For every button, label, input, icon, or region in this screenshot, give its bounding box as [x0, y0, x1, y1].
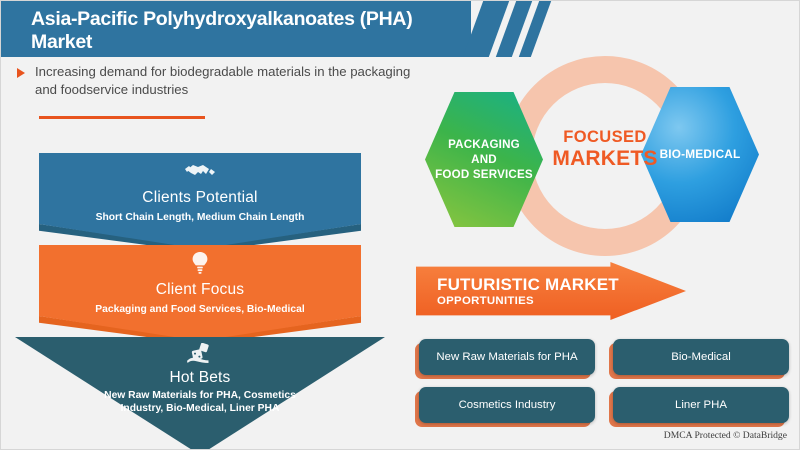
band-subtitle: Short Chain Length, Medium Chain Length — [39, 211, 361, 224]
funnel-band-client-focus: Client Focus Packaging and Food Services… — [39, 245, 361, 341]
page-title: Asia-Pacific Polyhydroxyalkanoates (PHA)… — [31, 8, 451, 54]
band-title: Clients Potential — [39, 189, 361, 207]
card-face: Cosmetics Industry — [419, 387, 595, 423]
hand-dice-icon — [15, 343, 385, 372]
accent-rule — [39, 116, 205, 119]
card-label: Liner PHA — [667, 399, 735, 411]
hexagon-label: BIO-MEDICAL — [660, 147, 741, 162]
focused-markets-diagram: PACKAGING AND FOOD SERVICES BIO-MEDICAL … — [419, 59, 791, 254]
focused-line-2: MARKETS — [544, 148, 666, 169]
handshake-icon — [39, 161, 361, 186]
band-title: Client Focus — [39, 281, 361, 299]
opportunity-card-grid: New Raw Materials for PHA Bio-Medical Co… — [415, 339, 793, 429]
opportunity-card-bio-medical[interactable]: Bio-Medical — [609, 339, 785, 375]
hexagon-label: PACKAGING AND FOOD SERVICES — [435, 137, 533, 182]
band-subtitle: Packaging and Food Services, Bio-Medical — [39, 303, 361, 316]
card-label: New Raw Materials for PHA — [428, 351, 585, 363]
card-label: Bio-Medical — [663, 351, 739, 363]
card-label: Cosmetics Industry — [451, 399, 564, 411]
band-title: Hot Bets — [15, 369, 385, 387]
focused-line-1: FOCUSED — [544, 127, 666, 148]
triangle-right-icon — [17, 68, 25, 78]
opportunity-card-cosmetics-industry[interactable]: Cosmetics Industry — [415, 387, 591, 423]
infographic-page: Asia-Pacific Polyhydroxyalkanoates (PHA)… — [0, 0, 800, 450]
opportunity-card-new-raw-materials[interactable]: New Raw Materials for PHA — [415, 339, 591, 375]
band-subtitle: New Raw Materials for PHA, Cosmetics Ind… — [100, 389, 300, 415]
card-face: Liner PHA — [613, 387, 789, 423]
lightbulb-icon — [39, 251, 361, 280]
opportunity-card-liner-pha[interactable]: Liner PHA — [609, 387, 785, 423]
subtitle-text: Increasing demand for biodegradable mate… — [35, 63, 417, 99]
footer-credit: DMCA Protected © DataBridge — [664, 430, 787, 441]
arrow-title: FUTURISTIC MARKET — [437, 275, 619, 295]
funnel-band-clients-potential: Clients Potential Short Chain Length, Me… — [39, 153, 361, 249]
funnel-diagram: Clients Potential Short Chain Length, Me… — [1, 141, 421, 431]
subtitle-block: Increasing demand for biodegradable mate… — [17, 63, 417, 99]
card-face: New Raw Materials for PHA — [419, 339, 595, 375]
card-face: Bio-Medical — [613, 339, 789, 375]
arrow-subtitle: OPPORTUNITIES — [437, 295, 534, 307]
funnel-band-hot-bets: Hot Bets New Raw Materials for PHA, Cosm… — [15, 337, 385, 450]
focused-markets-label: FOCUSED MARKETS — [544, 127, 666, 169]
